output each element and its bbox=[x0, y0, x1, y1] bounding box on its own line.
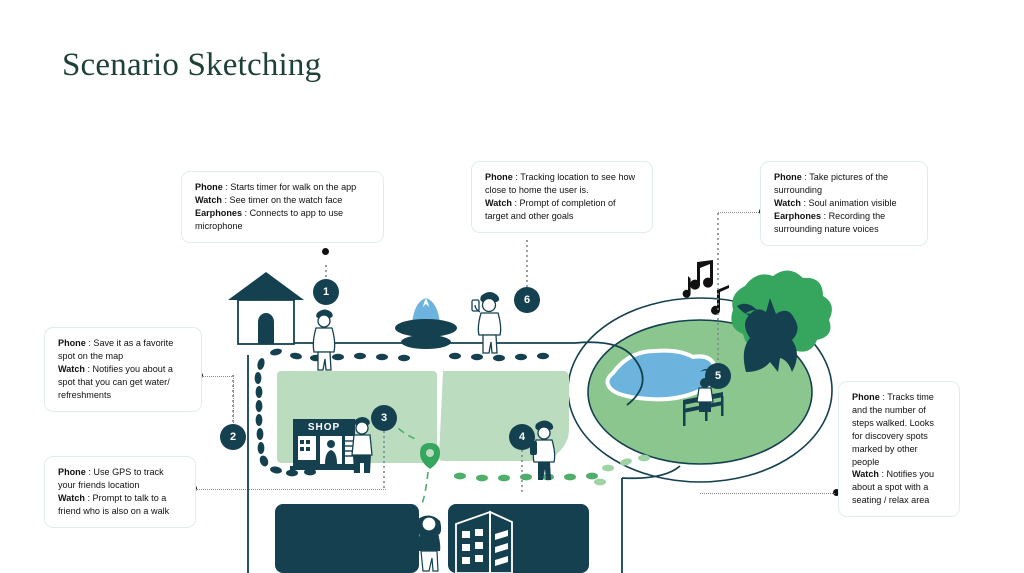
shop-sign-label: SHOP bbox=[308, 422, 340, 433]
stepping-stone-path-green bbox=[454, 473, 598, 482]
person-bottom-center bbox=[417, 515, 441, 571]
map-marker-1-label: 1 bbox=[323, 286, 329, 298]
map-marker-5[interactable]: 5 bbox=[705, 363, 731, 389]
map-marker-4-label: 4 bbox=[519, 431, 525, 443]
house-building bbox=[228, 272, 304, 344]
map-marker-4[interactable]: 4 bbox=[509, 424, 535, 450]
map-marker-1[interactable]: 1 bbox=[313, 279, 339, 305]
pin-connector-line-down bbox=[422, 472, 428, 504]
music-notes-icon bbox=[683, 260, 729, 315]
scenario-map-illustration: SHOP bbox=[0, 0, 1024, 573]
city-block-left bbox=[275, 504, 419, 573]
map-marker-6-label: 6 bbox=[524, 294, 530, 306]
map-marker-3-label: 3 bbox=[381, 412, 387, 424]
map-marker-3[interactable]: 3 bbox=[371, 405, 397, 431]
slide-canvas: Scenario Sketching bbox=[0, 0, 1024, 573]
map-marker-2[interactable]: 2 bbox=[220, 424, 246, 450]
shop-building: SHOP bbox=[290, 419, 358, 470]
map-marker-6[interactable]: 6 bbox=[514, 287, 540, 313]
map-marker-2-label: 2 bbox=[230, 431, 236, 443]
tree bbox=[731, 270, 832, 372]
fountain bbox=[395, 298, 457, 349]
map-marker-5-label: 5 bbox=[715, 370, 721, 382]
